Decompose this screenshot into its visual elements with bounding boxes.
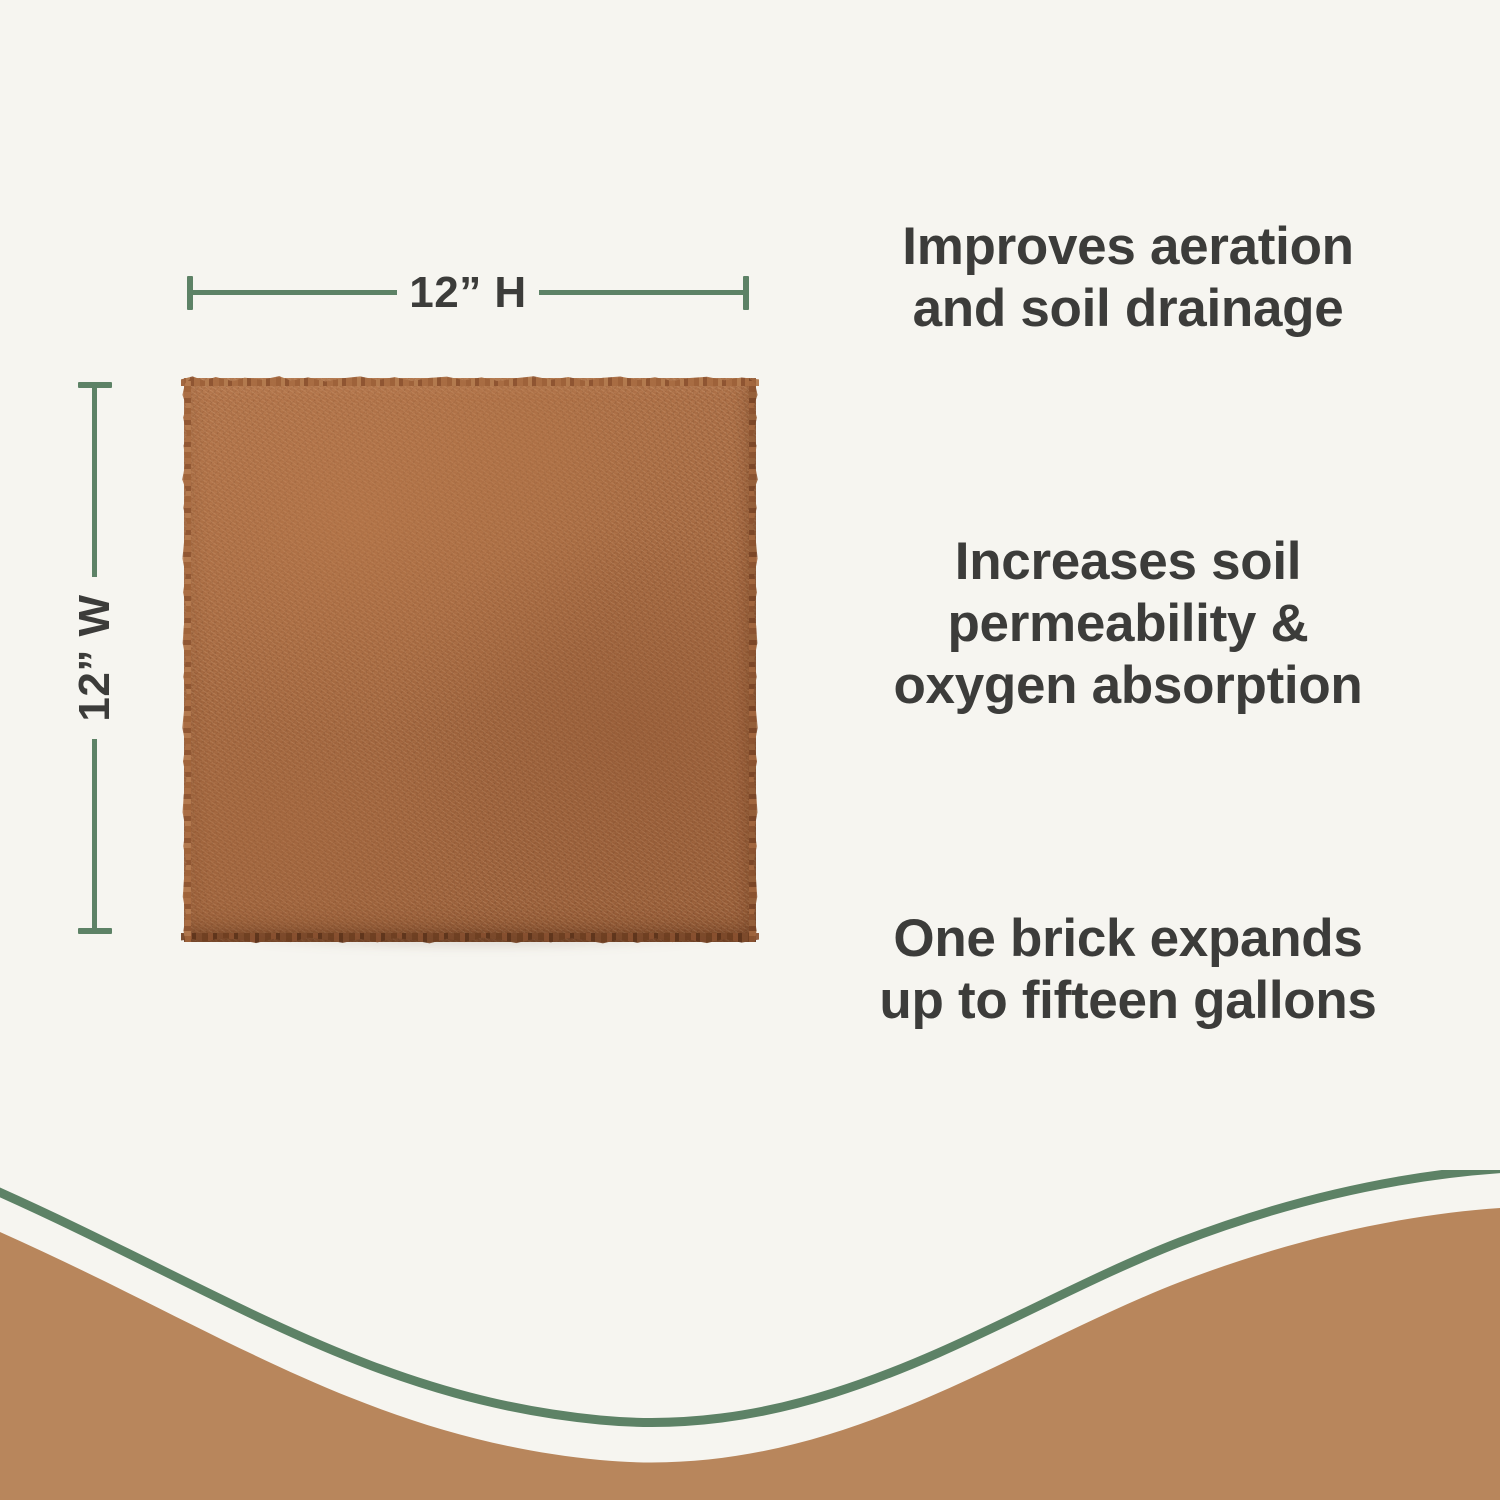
benefit-line: One brick expands (818, 908, 1438, 970)
wave-green-line (0, 1170, 1500, 1422)
wave-tan-fill (0, 1208, 1500, 1500)
brick-drop-shadow (202, 936, 746, 952)
benefit-line: and soil drainage (818, 278, 1438, 340)
benefit-expansion-volume: One brick expands up to fifteen gallons (818, 908, 1438, 1032)
dimension-height-label: 12” H (187, 266, 749, 320)
benefit-permeability-oxygen: Increases soil permeability & oxygen abs… (818, 531, 1438, 717)
dimension-vertical: 12” W (78, 382, 112, 934)
dimension-horizontal: 12” H (187, 276, 749, 310)
benefit-line: permeability & (818, 593, 1438, 655)
infographic-canvas: 12” H 12” W Improves aeration and soil d… (0, 0, 1500, 1500)
benefits-panel: Improves aeration and soil drainage Incr… (818, 0, 1438, 1120)
benefit-line: Increases soil (818, 531, 1438, 593)
dimension-cap-bottom (78, 928, 112, 934)
brick-surface-texture (184, 378, 756, 942)
benefit-aeration-drainage: Improves aeration and soil drainage (818, 216, 1438, 340)
coir-brick-image (184, 378, 756, 942)
dimension-width-label: 12” W (68, 396, 122, 920)
benefit-line: up to fifteen gallons (818, 970, 1438, 1032)
benefit-line: Improves aeration (818, 216, 1438, 278)
wave-decoration (0, 1170, 1500, 1500)
benefit-line: oxygen absorption (818, 655, 1438, 717)
product-panel: 12” H 12” W (0, 0, 820, 1180)
